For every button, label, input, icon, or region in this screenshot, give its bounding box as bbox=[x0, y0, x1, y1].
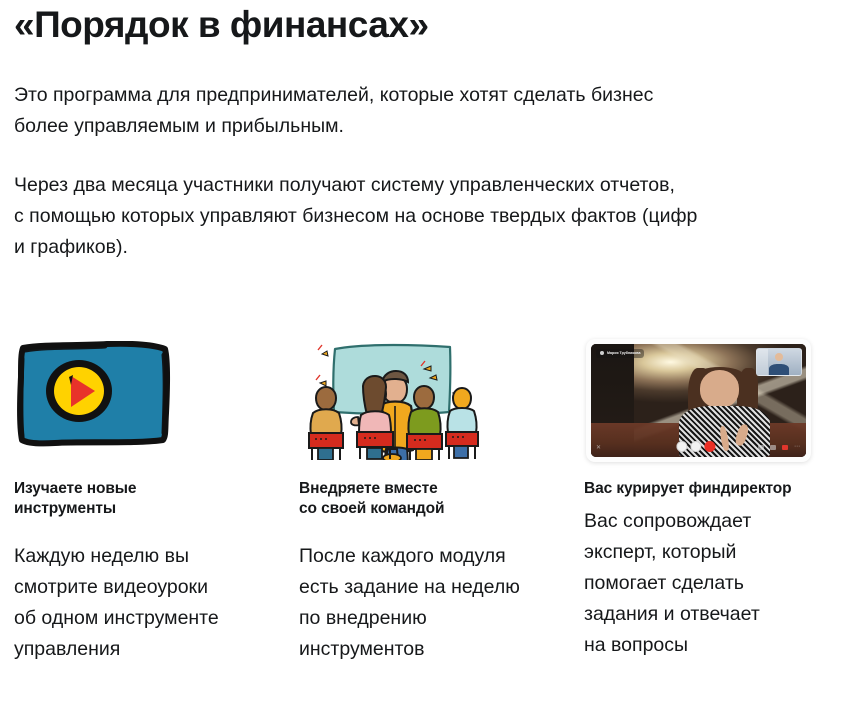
card-body-line: Каждую неделю вы bbox=[14, 541, 280, 572]
end-call-button[interactable] bbox=[704, 441, 715, 452]
feature-cards-row: Изучаете новые инструменты Каждую неделю… bbox=[14, 336, 854, 665]
chat-icon[interactable] bbox=[758, 445, 764, 450]
page-title: «Порядок в финансах» bbox=[14, 2, 429, 48]
call-secondary-controls: ⋯ bbox=[758, 445, 800, 450]
camera-button[interactable] bbox=[690, 441, 701, 452]
card-body-curator: Вас сопровождает эксперт, который помога… bbox=[584, 506, 850, 661]
card-body-line: эксперт, который bbox=[584, 537, 850, 568]
card-title-curator: Вас курирует финдиректор bbox=[584, 479, 850, 499]
close-icon[interactable]: ✕ bbox=[596, 445, 601, 451]
card-body-line: об одном инструменте bbox=[14, 603, 280, 634]
feature-card-learn: Изучаете новые инструменты Каждую неделю… bbox=[14, 336, 280, 665]
intro-line: более управляемым и прибыльным. bbox=[14, 115, 344, 137]
card-title-team: Внедряете вместе со своей командой bbox=[299, 479, 565, 519]
participant-name: Мария Трубникова bbox=[607, 351, 640, 356]
participants-icon[interactable] bbox=[770, 445, 776, 450]
more-icon[interactable]: ⋯ bbox=[794, 445, 800, 450]
card-body-line: инструментов bbox=[299, 634, 565, 665]
call-controls bbox=[676, 441, 715, 452]
card-body-team: После каждого модуля есть задание на нед… bbox=[299, 541, 565, 665]
card-body-line: задания и отвечает bbox=[584, 599, 850, 630]
intro-line: Это программа для предпринимателей, кото… bbox=[14, 84, 653, 106]
card-media-curator: Мария Трубникова ✕ bbox=[584, 336, 850, 461]
video-player-sketch-icon bbox=[15, 341, 175, 449]
pip-wall bbox=[757, 349, 768, 375]
classroom-team-icon bbox=[304, 336, 479, 460]
card-title-line: Внедряете вместе bbox=[299, 479, 565, 499]
intro-section: Это программа для предпринимателей, кото… bbox=[14, 80, 854, 263]
page-root: «Порядок в финансах» Это программа для п… bbox=[0, 0, 854, 717]
reaction-heart-icon[interactable] bbox=[782, 445, 788, 450]
card-body-line: на вопросы bbox=[584, 630, 850, 661]
card-body-line: Вас сопровождает bbox=[584, 506, 850, 537]
intro-line: и графиков). bbox=[14, 236, 128, 258]
feature-card-curator: Мария Трубникова ✕ bbox=[584, 336, 850, 661]
feature-card-team: Внедряете вместе со своей командой После… bbox=[299, 336, 565, 665]
pip-body bbox=[769, 364, 788, 375]
video-call-screen: Мария Трубникова ✕ bbox=[591, 344, 806, 457]
card-title-line: Вас курирует финдиректор bbox=[584, 479, 850, 499]
card-title-line: со своей командой bbox=[299, 499, 565, 519]
card-body-line: по внедрению bbox=[299, 603, 565, 634]
intro-line: Через два месяца участники получают сист… bbox=[14, 174, 675, 196]
pip-head bbox=[775, 353, 783, 361]
card-media-learn bbox=[14, 336, 280, 461]
card-body-line: смотрите видеоуроки bbox=[14, 572, 280, 603]
participant-head bbox=[700, 370, 740, 408]
self-view-pip[interactable] bbox=[756, 348, 802, 376]
microphone-button[interactable] bbox=[676, 441, 687, 452]
card-title-line: Изучаете новые bbox=[14, 479, 280, 499]
card-body-line: есть задание на неделю bbox=[299, 572, 565, 603]
card-body-line: После каждого модуля bbox=[299, 541, 565, 572]
card-body-learn: Каждую неделю вы смотрите видеоуроки об … bbox=[14, 541, 280, 665]
card-title-line: инструменты bbox=[14, 499, 280, 519]
participant-name-badge: Мария Трубникова bbox=[596, 349, 644, 358]
card-title-learn: Изучаете новые инструменты bbox=[14, 479, 280, 519]
intro-line: с помощью которых управляют бизнесом на … bbox=[14, 205, 697, 227]
intro-paragraph-2: Через два месяца участники получают сист… bbox=[14, 170, 854, 263]
card-media-team bbox=[299, 336, 565, 461]
card-body-line: помогает сделать bbox=[584, 568, 850, 599]
mic-status-icon bbox=[600, 351, 604, 355]
intro-paragraph-1: Это программа для предпринимателей, кото… bbox=[14, 80, 854, 142]
card-body-line: управления bbox=[14, 634, 280, 665]
video-call-screenshot: Мария Трубникова ✕ bbox=[586, 339, 811, 462]
